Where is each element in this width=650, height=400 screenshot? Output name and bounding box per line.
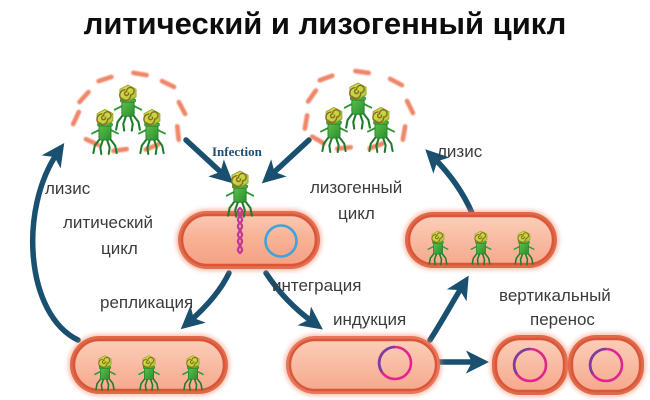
divided-daughter-cells xyxy=(490,333,646,397)
label-lysis-left: лизис xyxy=(45,178,90,199)
label-lysis-right: лизис xyxy=(437,141,482,162)
arrow-infection-right xyxy=(270,140,309,176)
label-vertical-transfer-line2: перенос xyxy=(530,309,595,331)
diagram-svg xyxy=(0,0,650,400)
arrow-lysis-right xyxy=(433,157,472,213)
label-lysogenic-cycle-line1: лизогенный xyxy=(310,177,402,199)
lysed-cell-phage-burst-right xyxy=(302,68,416,152)
label-integration: интеграция xyxy=(272,275,361,296)
lysed-cell-phage-burst-left xyxy=(70,70,188,154)
bacterium-with-prophage xyxy=(284,334,442,396)
arrow-induction xyxy=(430,285,463,340)
daughter-cell-right xyxy=(566,333,646,397)
label-infection: Infection xyxy=(212,144,262,160)
label-induction: индукция xyxy=(333,309,406,330)
bacterium-with-assembled-phages-right xyxy=(403,210,559,270)
bacterium-infected-with-phage xyxy=(176,171,322,271)
label-lytic-cycle-line2: цикл xyxy=(101,238,138,260)
label-lysogenic-cycle-line2: цикл xyxy=(338,203,375,225)
page-title: литический и лизогенный цикл xyxy=(0,6,650,42)
bacterium-with-assembled-phages-left xyxy=(68,334,230,396)
label-lytic-cycle-line1: литический xyxy=(63,212,153,234)
diagram-canvas: литический и лизогенный цикл Infection л… xyxy=(0,0,650,400)
daughter-cell-left xyxy=(490,333,570,397)
label-replication: репликация xyxy=(100,292,193,313)
label-vertical-transfer-line1: вертикальный xyxy=(499,285,611,307)
arrow-replication xyxy=(189,273,229,322)
